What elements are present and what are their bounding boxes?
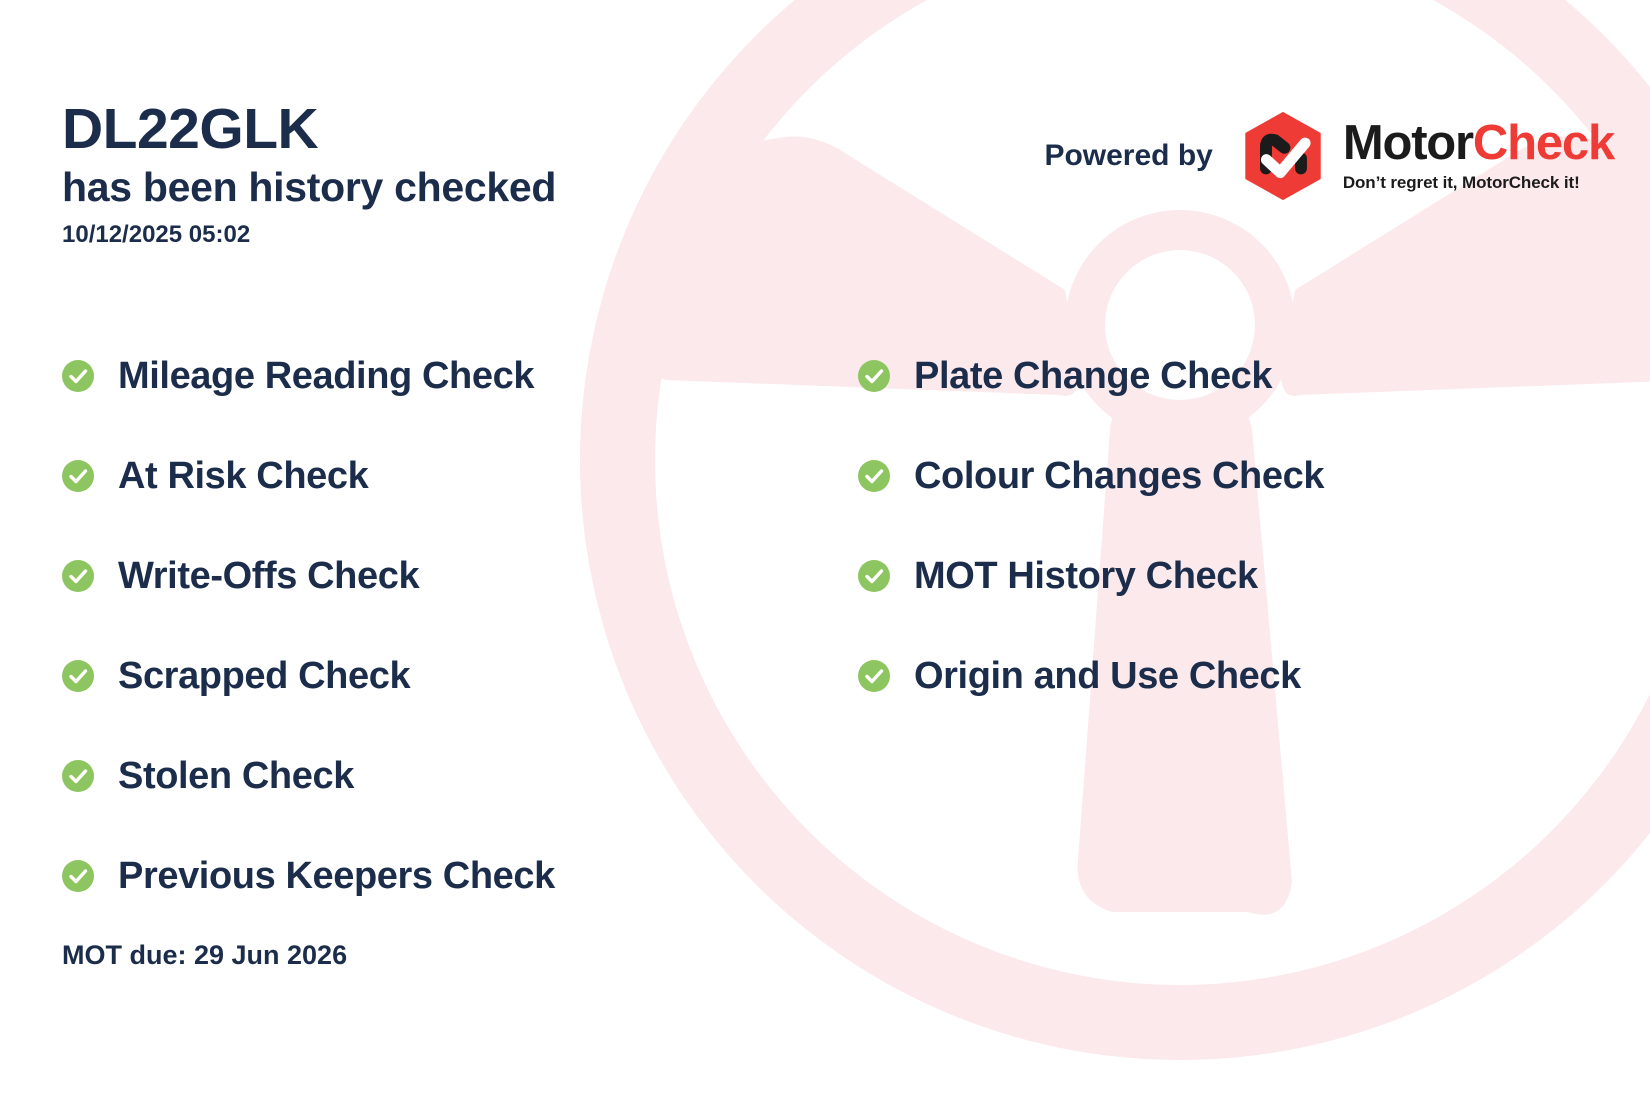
motorcheck-wordmark: MotorCheck Don’t regret it, MotorCheck i… bbox=[1343, 119, 1614, 193]
check-item: Write-Offs Check bbox=[62, 526, 555, 626]
check-item-label: Colour Changes Check bbox=[914, 457, 1324, 495]
check-circle-icon bbox=[62, 360, 94, 392]
check-timestamp: 10/12/2025 05:02 bbox=[62, 221, 556, 249]
powered-by-block: Powered by MotorCheck Don’t regret it, M… bbox=[1044, 110, 1614, 202]
check-item: Plate Change Check bbox=[858, 326, 1324, 426]
powered-by-label: Powered by bbox=[1044, 139, 1212, 173]
check-item: MOT History Check bbox=[858, 526, 1324, 626]
check-circle-icon bbox=[62, 560, 94, 592]
check-item-label: Scrapped Check bbox=[118, 657, 410, 695]
vehicle-history-check-card: DL22GLK has been history checked 10/12/2… bbox=[0, 0, 1650, 1100]
report-header: DL22GLK has been history checked 10/12/2… bbox=[62, 100, 556, 249]
check-item-label: At Risk Check bbox=[118, 457, 368, 495]
check-item: Colour Changes Check bbox=[858, 426, 1324, 526]
check-item-label: Mileage Reading Check bbox=[118, 357, 534, 395]
wordmark-check: Check bbox=[1473, 116, 1614, 170]
motorcheck-logo[interactable]: MotorCheck Don’t regret it, MotorCheck i… bbox=[1237, 110, 1614, 202]
check-item: Stolen Check bbox=[62, 726, 555, 826]
check-circle-icon bbox=[858, 660, 890, 692]
check-item-label: Previous Keepers Check bbox=[118, 857, 555, 895]
check-circle-icon bbox=[858, 560, 890, 592]
wordmark-text: MotorCheck bbox=[1343, 119, 1614, 168]
check-item: Scrapped Check bbox=[62, 626, 555, 726]
brand-tagline: Don’t regret it, MotorCheck it! bbox=[1343, 173, 1614, 193]
check-item-label: Origin and Use Check bbox=[914, 657, 1301, 695]
checks-column-left: Mileage Reading CheckAt Risk CheckWrite-… bbox=[62, 326, 555, 926]
check-item: Previous Keepers Check bbox=[62, 826, 555, 926]
motorcheck-hexagon-icon bbox=[1237, 110, 1329, 202]
checks-column-right: Plate Change CheckColour Changes CheckMO… bbox=[858, 326, 1324, 726]
check-item: Mileage Reading Check bbox=[62, 326, 555, 426]
check-item: At Risk Check bbox=[62, 426, 555, 526]
check-circle-icon bbox=[62, 860, 94, 892]
registration-plate: DL22GLK bbox=[62, 100, 556, 160]
check-item-label: Stolen Check bbox=[118, 757, 354, 795]
check-item-label: MOT History Check bbox=[914, 557, 1258, 595]
wordmark-motor: Motor bbox=[1343, 116, 1473, 170]
check-item: Origin and Use Check bbox=[858, 626, 1324, 726]
check-circle-icon bbox=[62, 660, 94, 692]
page-title: has been history checked bbox=[62, 164, 556, 211]
check-circle-icon bbox=[62, 460, 94, 492]
check-circle-icon bbox=[858, 460, 890, 492]
check-circle-icon bbox=[858, 360, 890, 392]
check-item-label: Plate Change Check bbox=[914, 357, 1272, 395]
mot-due-text: MOT due: 29 Jun 2026 bbox=[62, 940, 347, 971]
check-circle-icon bbox=[62, 760, 94, 792]
check-item-label: Write-Offs Check bbox=[118, 557, 419, 595]
